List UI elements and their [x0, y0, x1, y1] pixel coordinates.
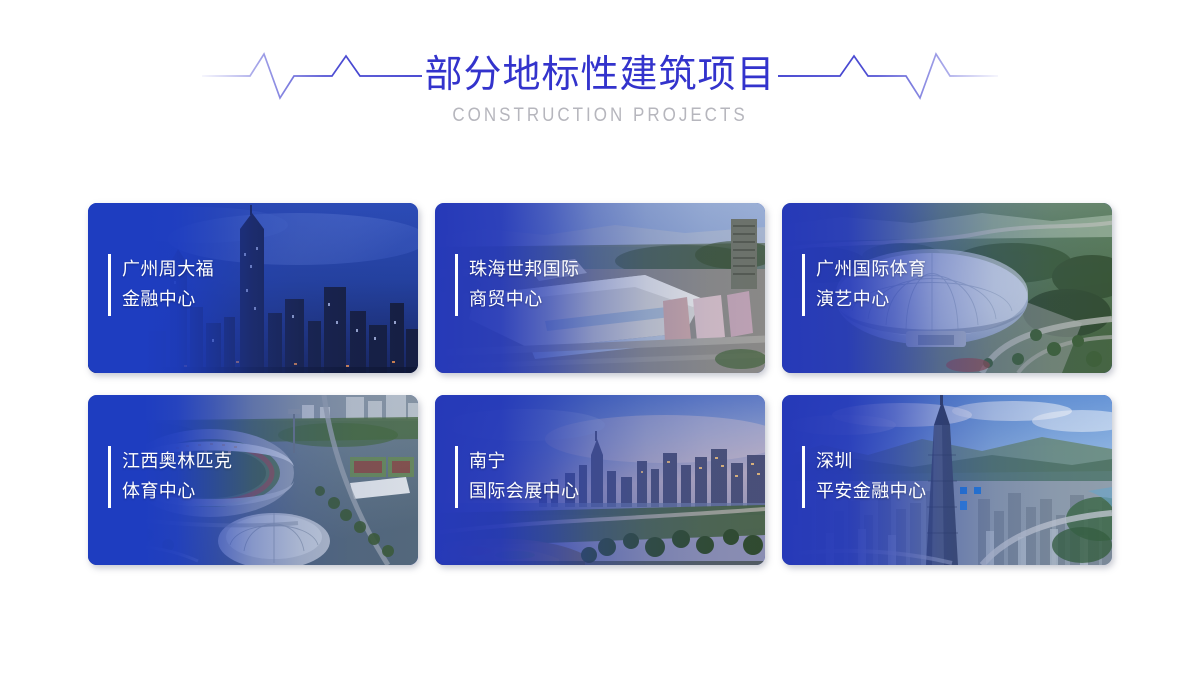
- project-card[interactable]: 广州周大福 金融中心: [88, 203, 418, 373]
- caption-accent-bar: [108, 446, 111, 508]
- project-caption: 南宁 国际会展中心: [455, 445, 579, 508]
- project-name: 深圳 平安金融中心: [816, 445, 926, 505]
- pulse-line-left-icon: [202, 46, 422, 102]
- project-name-line1: 广州周大福: [122, 253, 214, 283]
- project-caption: 广州周大福 金融中心: [108, 253, 214, 316]
- project-name: 南宁 国际会展中心: [469, 445, 579, 505]
- pulse-line-right-icon: [778, 46, 998, 102]
- project-card[interactable]: 深圳 平安金融中心: [782, 395, 1112, 565]
- caption-accent-bar: [455, 254, 458, 316]
- project-name-line2: 国际会展中心: [469, 475, 579, 505]
- project-name: 珠海世邦国际 商贸中心: [469, 253, 579, 313]
- caption-accent-bar: [108, 254, 111, 316]
- project-name-line1: 江西奥林匹克: [122, 445, 232, 475]
- slide-header: 部分地标性建筑项目 CONSTRUCTION PROJECTS: [0, 46, 1200, 141]
- project-caption: 深圳 平安金融中心: [802, 445, 926, 508]
- project-caption: 江西奥林匹克 体育中心: [108, 445, 232, 508]
- project-caption: 广州国际体育 演艺中心: [802, 253, 926, 316]
- project-name-line2: 平安金融中心: [816, 475, 926, 505]
- project-name: 广州周大福 金融中心: [122, 253, 214, 313]
- project-name-line2: 演艺中心: [816, 283, 926, 313]
- project-name-line1: 广州国际体育: [816, 253, 926, 283]
- project-card[interactable]: 珠海世邦国际 商贸中心: [435, 203, 765, 373]
- project-name-line2: 商贸中心: [469, 283, 579, 313]
- project-name-line2: 体育中心: [122, 475, 232, 505]
- project-name: 广州国际体育 演艺中心: [816, 253, 926, 313]
- project-grid: 广州周大福 金融中心: [88, 203, 1112, 565]
- project-name-line1: 珠海世邦国际: [469, 253, 579, 283]
- project-name-line1: 深圳: [816, 445, 926, 475]
- project-card[interactable]: 广州国际体育 演艺中心: [782, 203, 1112, 373]
- page-subtitle: CONSTRUCTION PROJECTS: [0, 104, 1200, 126]
- title-row: 部分地标性建筑项目: [0, 46, 1200, 102]
- caption-accent-bar: [802, 446, 805, 508]
- page-title: 部分地标性建筑项目: [422, 51, 777, 97]
- project-name-line1: 南宁: [469, 445, 579, 475]
- project-card[interactable]: 南宁 国际会展中心: [435, 395, 765, 565]
- project-name: 江西奥林匹克 体育中心: [122, 445, 232, 505]
- caption-accent-bar: [802, 254, 805, 316]
- project-name-line2: 金融中心: [122, 283, 214, 313]
- project-caption: 珠海世邦国际 商贸中心: [455, 253, 579, 316]
- caption-accent-bar: [455, 446, 458, 508]
- project-card[interactable]: 江西奥林匹克 体育中心: [88, 395, 418, 565]
